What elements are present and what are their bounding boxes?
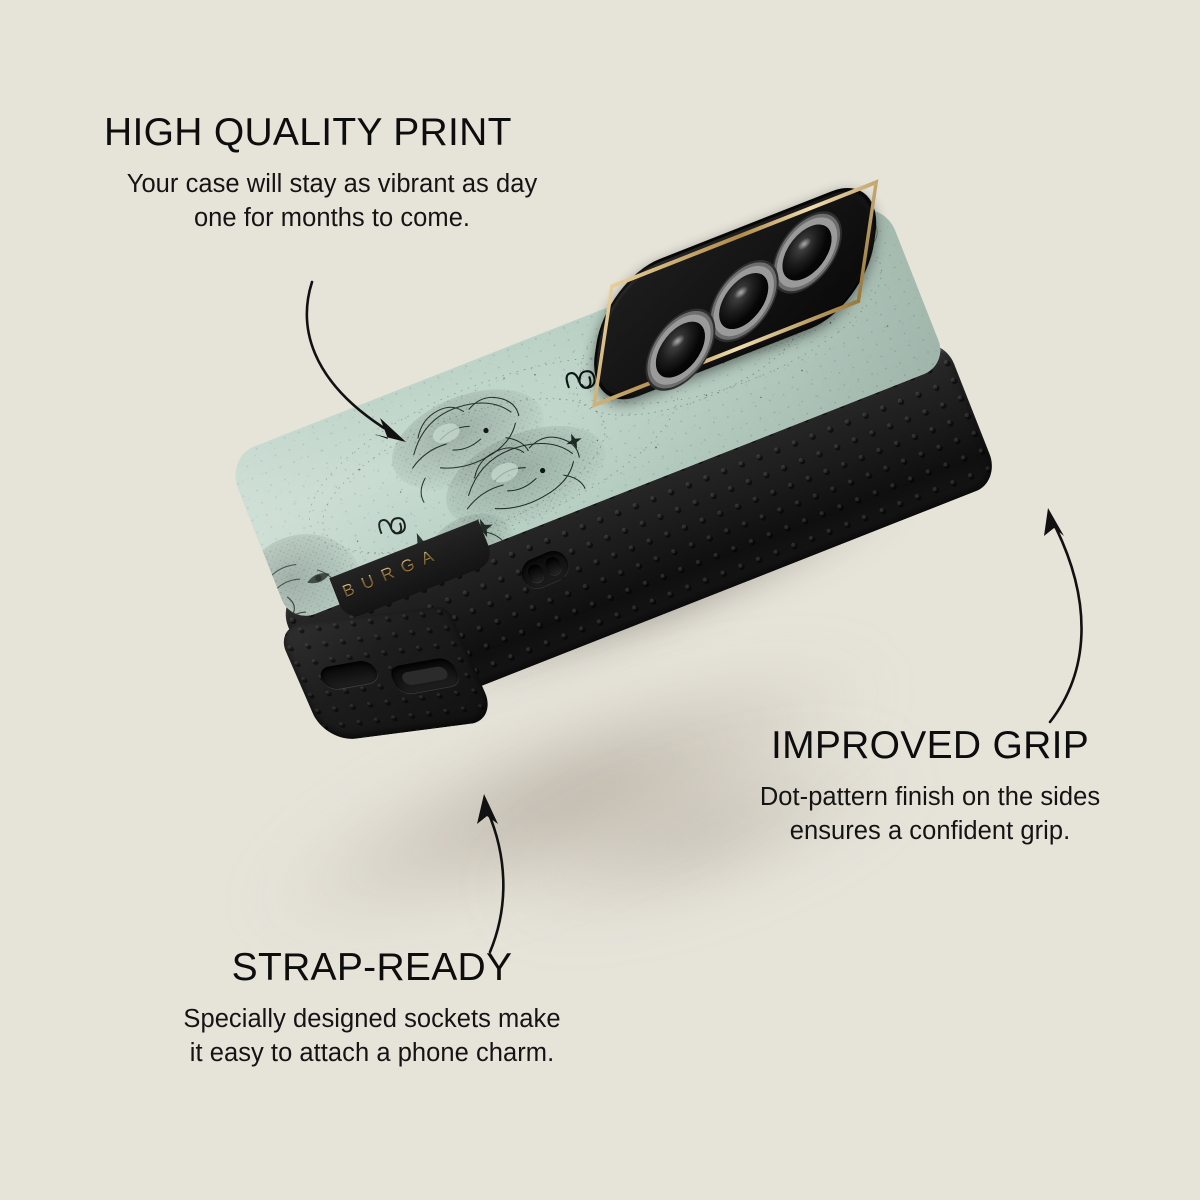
callout-strap-body-line2: it easy to attach a phone charm. <box>190 1039 554 1067</box>
triple-camera-module <box>585 170 885 417</box>
printed-back-face <box>226 199 948 623</box>
arrow-print-icon <box>288 268 468 458</box>
artwork-base-color <box>226 199 948 623</box>
callout-improved-grip: IMPROVED GRIP Dot-pattern finish on the … <box>730 726 1130 849</box>
callout-grip-title: IMPROVED GRIP <box>730 726 1130 767</box>
strap-socket-hole-right <box>543 555 563 577</box>
brand-logo-burga: BURGA <box>340 543 445 602</box>
moon-face-left <box>226 516 379 623</box>
callout-strap-body: Specially designed sockets make it easy … <box>132 1003 612 1071</box>
camera-lens-1 <box>779 217 835 289</box>
callout-print-body-line1: Your case will stay as vibrant as day <box>127 170 538 198</box>
print-grain-texture <box>226 199 948 623</box>
strap-socket <box>517 546 573 593</box>
strap-socket-hole-left <box>526 562 546 584</box>
callout-strap-ready: STRAP-READY Specially designed sockets m… <box>132 948 612 1071</box>
callout-strap-body-line1: Specially designed sockets make <box>183 1005 560 1033</box>
callout-print-body: Your case will stay as vibrant as day on… <box>82 168 582 236</box>
dot-pattern-side-bumper <box>277 336 1000 744</box>
camera-lens-2 <box>716 265 772 337</box>
celestial-artwork <box>226 199 948 623</box>
moon-face-right <box>679 207 858 375</box>
moon-face-small <box>419 502 523 590</box>
callout-print-title: HIGH QUALITY PRINT <box>104 113 582 154</box>
callout-grip-body-line1: Dot-pattern finish on the sides <box>760 783 1100 811</box>
phone-case-device: BURGA <box>226 201 998 765</box>
callout-print-body-line2: one for months to come. <box>194 204 470 232</box>
camera-gold-bezel <box>592 179 878 408</box>
capricorn-illustration-lower <box>432 405 621 548</box>
capricorn-glyphs <box>351 364 623 541</box>
arrow-grip-icon <box>1004 492 1154 732</box>
device-bottom-edge <box>275 605 497 742</box>
arrow-strap-icon <box>444 784 594 964</box>
camera-lens-3 <box>652 314 708 386</box>
callout-strap-title: STRAP-READY <box>132 948 612 989</box>
capricorn-illustration-upper <box>378 369 559 510</box>
callout-grip-body-line2: ensures a confident grip. <box>790 817 1071 845</box>
print-sheen <box>226 199 948 623</box>
dust-specks <box>319 234 899 563</box>
usb-c-port <box>387 657 463 696</box>
callout-grip-body: Dot-pattern finish on the sides ensures … <box>730 781 1130 849</box>
sparkle-stars <box>366 299 768 566</box>
brand-logo-plate <box>329 520 495 621</box>
callout-high-quality-print: HIGH QUALITY PRINT Your case will stay a… <box>104 113 582 236</box>
celestial-orb <box>836 209 883 256</box>
speaker-grille-port <box>316 659 381 691</box>
side-bumper-highlight <box>290 337 947 608</box>
